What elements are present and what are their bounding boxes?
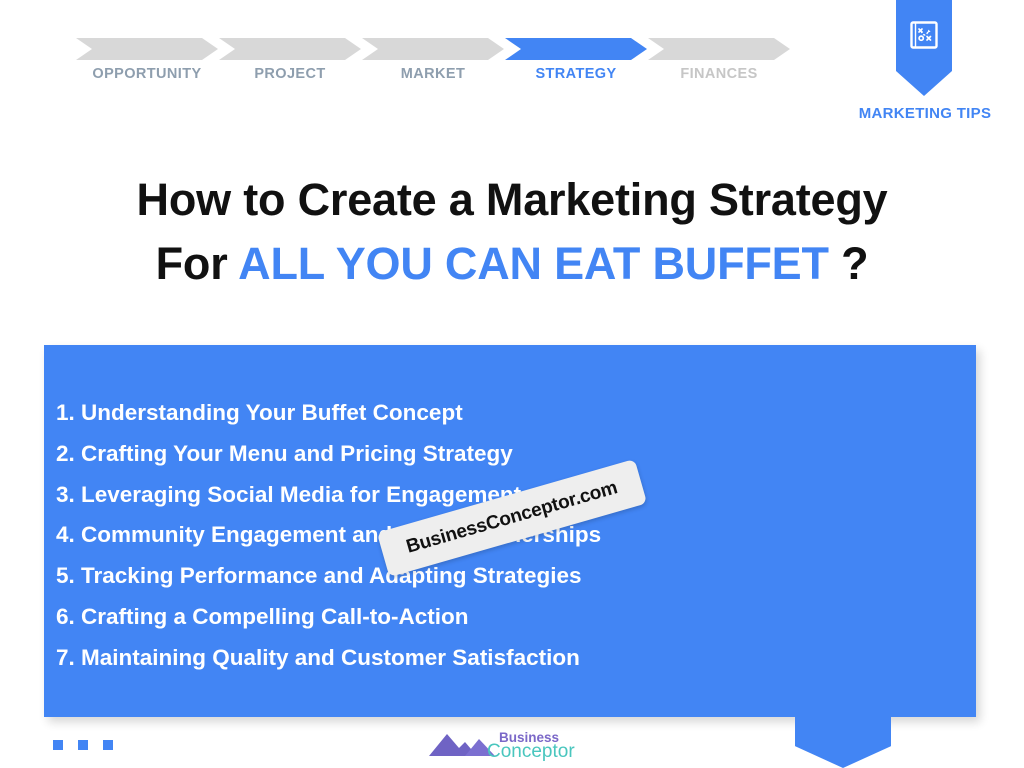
marketing-tips-badge: MARKETING TIPS [845, 0, 1005, 132]
step-opportunity[interactable]: OPPORTUNITY [76, 38, 218, 60]
step-label: OPPORTUNITY [76, 66, 218, 82]
title-line-2: For ALL YOU CAN EAT BUFFET ? [0, 232, 1024, 296]
step-label: MARKET [362, 66, 504, 82]
chevron-shape [505, 38, 647, 60]
ribbon-shape [896, 0, 952, 96]
progress-steps: OPPORTUNITY PROJECT MARKET STRATEGY FINA… [76, 38, 816, 94]
chevron-shape [362, 38, 504, 60]
brand-logo: Business Conceptor [425, 726, 600, 764]
list-item: 1. Understanding Your Buffet Concept [56, 393, 966, 434]
chevron-shape [76, 38, 218, 60]
square-dot-icon [53, 740, 63, 750]
square-dot-icon [103, 740, 113, 750]
step-strategy[interactable]: STRATEGY [505, 38, 647, 60]
brand-bottom-text: Conceptor [487, 741, 575, 762]
title-line-1: How to Create a Marketing Strategy [0, 168, 1024, 232]
list-item: 2. Crafting Your Menu and Pricing Strate… [56, 434, 966, 475]
chevron-shape [648, 38, 790, 60]
mountain-logo-icon: Business Conceptor [425, 726, 600, 764]
list-item: 6. Crafting a Compelling Call-to-Action [56, 597, 966, 638]
page-title: How to Create a Marketing Strategy For A… [0, 168, 1024, 296]
footer-dots [53, 740, 113, 750]
chevron-shape [219, 38, 361, 60]
title-suffix: ? [829, 238, 869, 289]
list-item: 5. Tracking Performance and Adapting Str… [56, 556, 966, 597]
footer-pennant-shape [795, 716, 891, 768]
step-label: FINANCES [648, 66, 790, 82]
step-finances[interactable]: FINANCES [648, 38, 790, 60]
marketing-tips-label: MARKETING TIPS [845, 105, 1005, 122]
step-market[interactable]: MARKET [362, 38, 504, 60]
step-label: PROJECT [219, 66, 361, 82]
title-subject: ALL YOU CAN EAT BUFFET [238, 238, 829, 289]
title-prefix: For [156, 238, 239, 289]
list-item: 7. Maintaining Quality and Customer Sati… [56, 638, 966, 679]
square-dot-icon [78, 740, 88, 750]
strategy-playbook-icon [908, 19, 940, 51]
step-label: STRATEGY [505, 66, 647, 82]
slide-canvas: OPPORTUNITY PROJECT MARKET STRATEGY FINA… [0, 0, 1024, 768]
step-project[interactable]: PROJECT [219, 38, 361, 60]
